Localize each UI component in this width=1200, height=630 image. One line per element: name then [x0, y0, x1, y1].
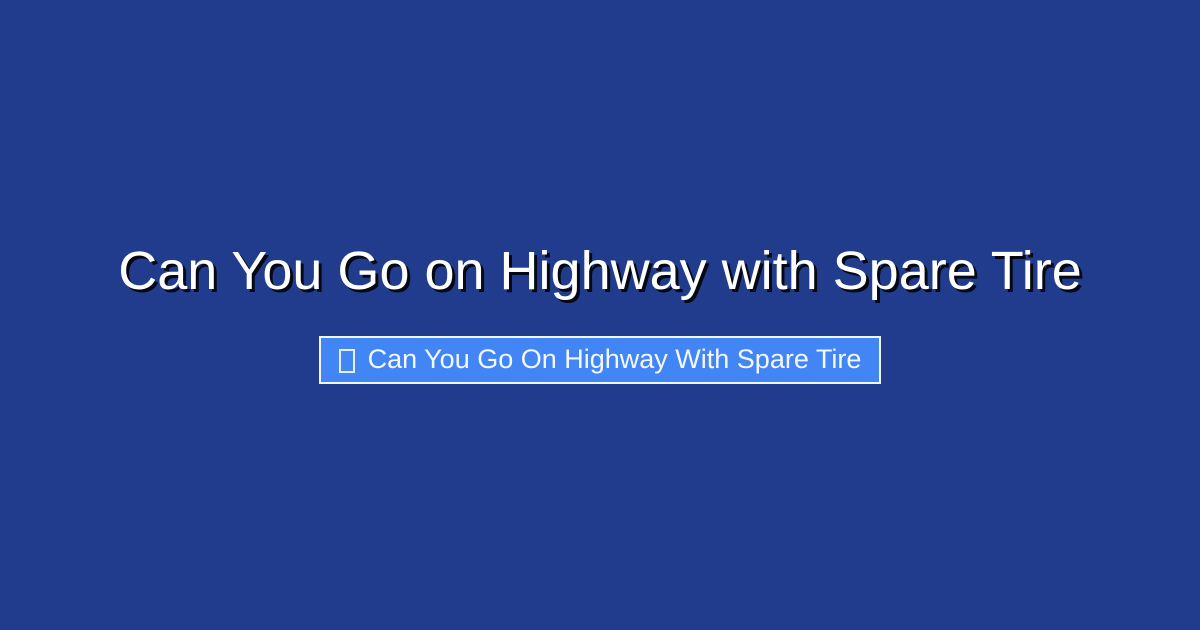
- missing-glyph-box-icon: [339, 349, 355, 373]
- og-image-card: Can You Go on Highway with Spare Tire Ca…: [0, 0, 1200, 630]
- page-title: Can You Go on Highway with Spare Tire: [78, 242, 1122, 300]
- card-content: Can You Go on Highway with Spare Tire Ca…: [0, 242, 1200, 383]
- cta-content-row: Can You Go On Highway With Spare Tire: [339, 346, 862, 373]
- cta-badge-label: Can You Go On Highway With Spare Tire: [368, 346, 862, 373]
- cta-badge-button[interactable]: Can You Go On Highway With Spare Tire: [319, 336, 882, 384]
